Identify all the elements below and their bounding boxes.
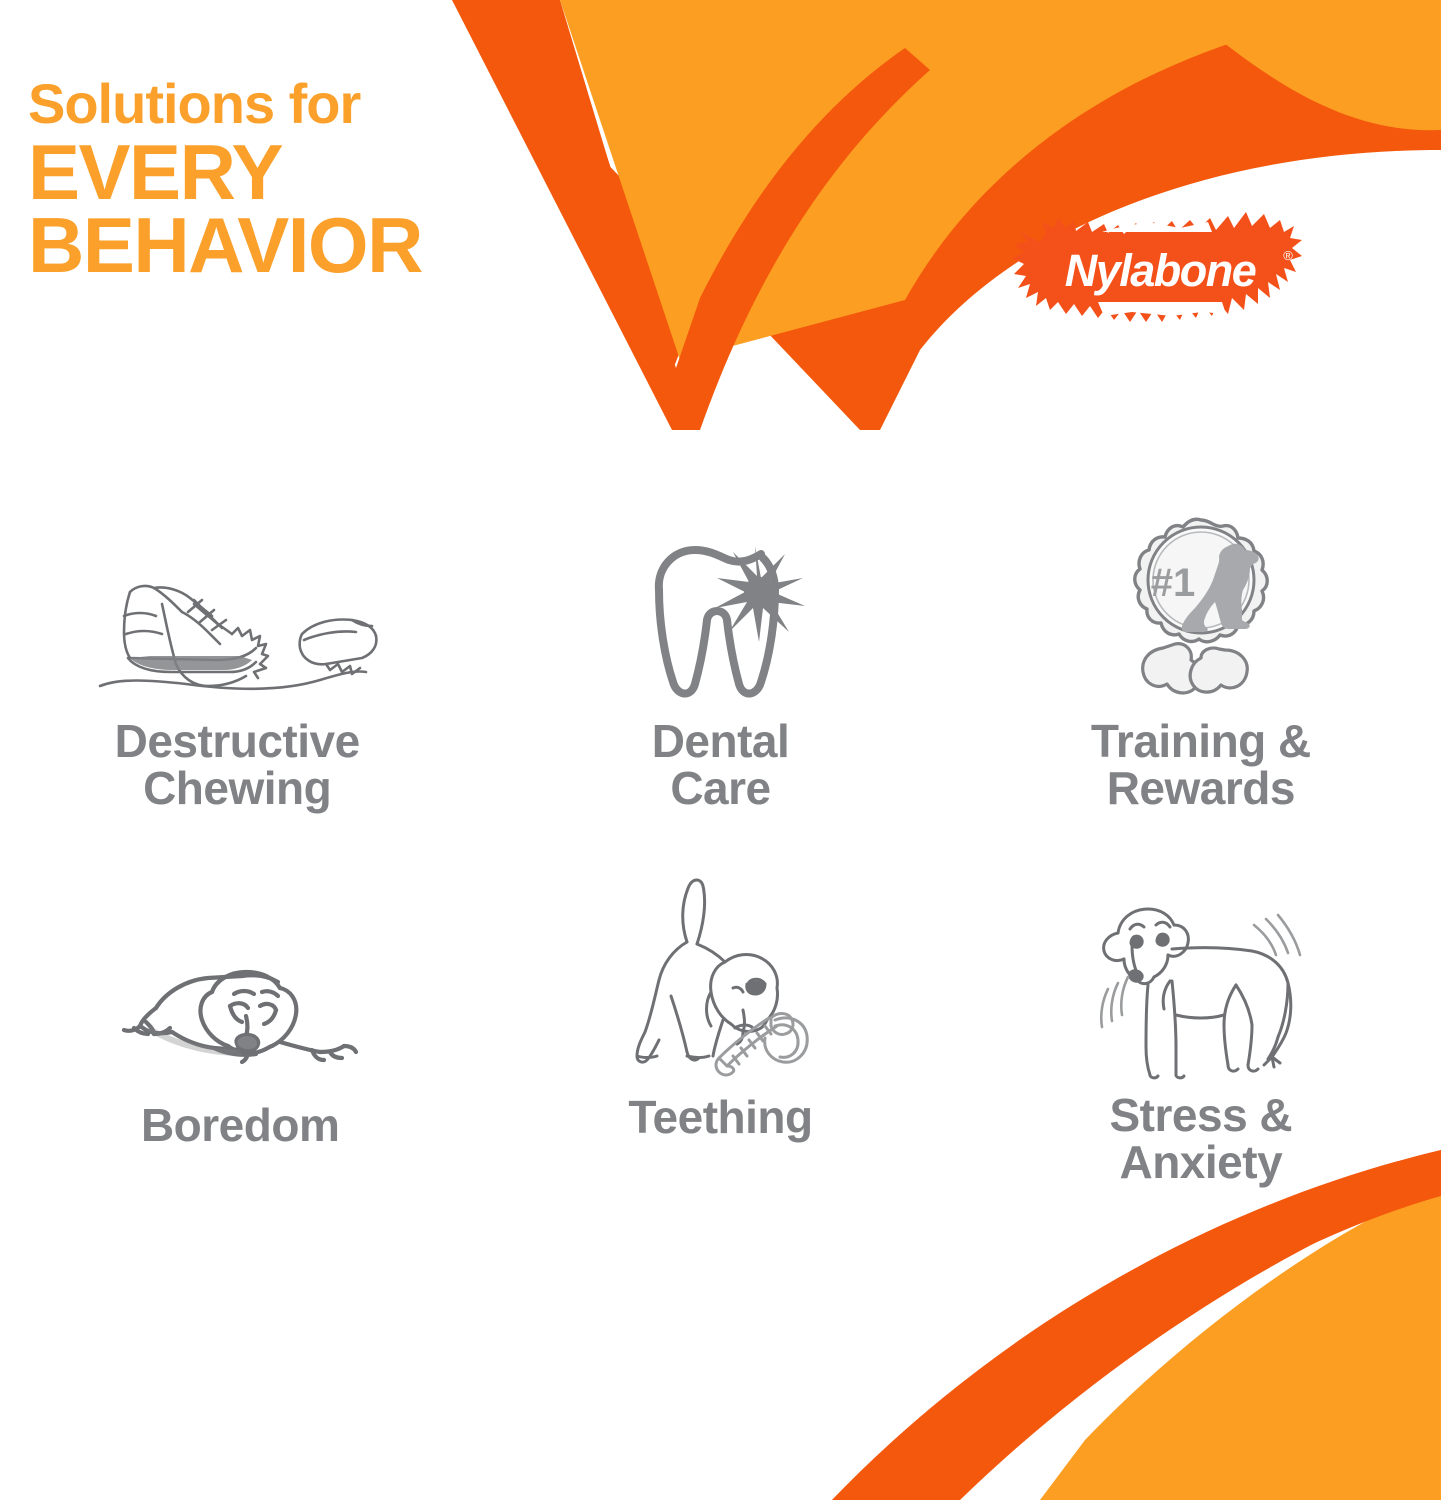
behavior-item-training-rewards: #1 Training & Rewards [961, 520, 1441, 880]
behavior-label: Destructive Chewing [115, 718, 360, 813]
motion-line [1111, 983, 1118, 1021]
top-swoosh-light-shape [560, 0, 1441, 360]
behavior-item-boredom: Boredom [0, 880, 480, 1240]
infographic-canvas: Solutions for EVERY BEHAVIOR Nylabone ® [0, 0, 1441, 1500]
anxious-trembling-dog-icon [1076, 880, 1326, 1080]
motion-line [1121, 977, 1128, 1015]
behavior-item-destructive-chewing: Destructive Chewing [0, 520, 480, 880]
behavior-label: Teething [628, 1094, 812, 1141]
chewed-shoe-icon [90, 520, 390, 710]
behavior-label: Boredom [141, 1102, 339, 1149]
sparkling-tooth-icon [625, 520, 815, 710]
top-swoosh-light-right-sliver [1170, 0, 1441, 130]
page-title: Solutions for EVERY BEHAVIOR [28, 78, 588, 281]
motion-line [1254, 925, 1276, 955]
bottom-swoosh-light-shape [1080, 1330, 1441, 1500]
behavior-item-stress-anxiety: Stress & Anxiety [961, 880, 1441, 1240]
motion-line [1101, 989, 1108, 1027]
behavior-label: Training & Rewards [1091, 718, 1311, 813]
registered-trademark-symbol: ® [1283, 248, 1293, 263]
badge-rank-text: #1 [1151, 561, 1196, 605]
nylabone-logo: Nylabone ® [1012, 198, 1307, 348]
nylabone-brush-bone-logo-icon: Nylabone ® [1012, 198, 1307, 348]
behavior-item-teething: Teething [480, 880, 960, 1240]
behavior-item-dental-care: Dental Care [480, 520, 960, 880]
teething-puppy-with-toy-icon [615, 880, 825, 1080]
award-rosette-dog-icon: #1 [1101, 520, 1301, 710]
headline-line-2: EVERY [28, 136, 588, 209]
behavior-label: Dental Care [652, 718, 790, 813]
behavior-label: Stress & Anxiety [1110, 1092, 1293, 1187]
nylabone-wordmark: Nylabone [1065, 245, 1256, 296]
headline-line-3: BEHAVIOR [28, 209, 588, 282]
motion-line [1278, 915, 1300, 955]
behavior-grid: Destructive Chewing [0, 520, 1441, 1240]
bored-lying-puppy-icon [90, 880, 390, 1080]
headline-line-1: Solutions for [28, 78, 588, 130]
